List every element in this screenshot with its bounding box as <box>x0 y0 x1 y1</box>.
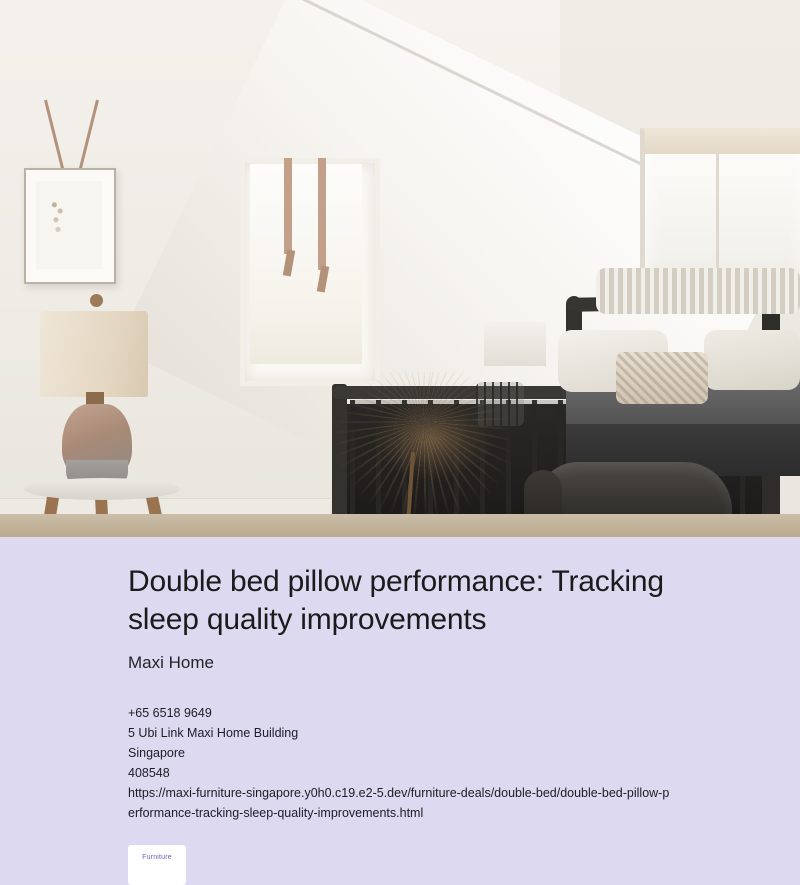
postal-code: 408548 <box>128 763 672 783</box>
brand-logo-label: Furniture <box>142 854 172 861</box>
page-url[interactable]: https://maxi-furniture-singapore.y0h0.c1… <box>128 783 672 823</box>
brand-name: Maxi Home <box>0 653 800 673</box>
lamp-finial <box>90 294 103 307</box>
bedside-lamp-shade <box>484 322 546 366</box>
side-table-top <box>24 478 180 500</box>
bedroom-photo <box>0 0 800 537</box>
phone-number: +65 6518 9649 <box>128 703 672 723</box>
pillow-right <box>704 330 800 390</box>
shade-strap-left <box>284 158 292 254</box>
knit-throw <box>596 268 800 314</box>
accent-cushion <box>616 352 708 404</box>
address-line: 5 Ubi Link Maxi Home Building <box>128 723 672 743</box>
page-root: Double bed pillow performance: Tracking … <box>0 0 800 840</box>
content-panel: Double bed pillow performance: Tracking … <box>0 537 800 885</box>
contact-details: +65 6518 9649 5 Ubi Link Maxi Home Build… <box>0 703 800 823</box>
brand-logo-card[interactable]: Furniture <box>128 845 186 885</box>
art-sketch <box>44 196 70 240</box>
window-shade <box>645 128 800 154</box>
table-lamp-shade <box>40 311 148 397</box>
hero-image <box>0 0 800 537</box>
shade-strap-right <box>318 158 326 270</box>
dried-floral-arrangement <box>330 372 510 537</box>
floor <box>0 514 800 537</box>
country: Singapore <box>128 743 672 763</box>
framed-wall-art <box>24 168 116 284</box>
roman-shade-cloth <box>250 164 362 364</box>
page-title: Double bed pillow performance: Tracking … <box>0 563 800 639</box>
